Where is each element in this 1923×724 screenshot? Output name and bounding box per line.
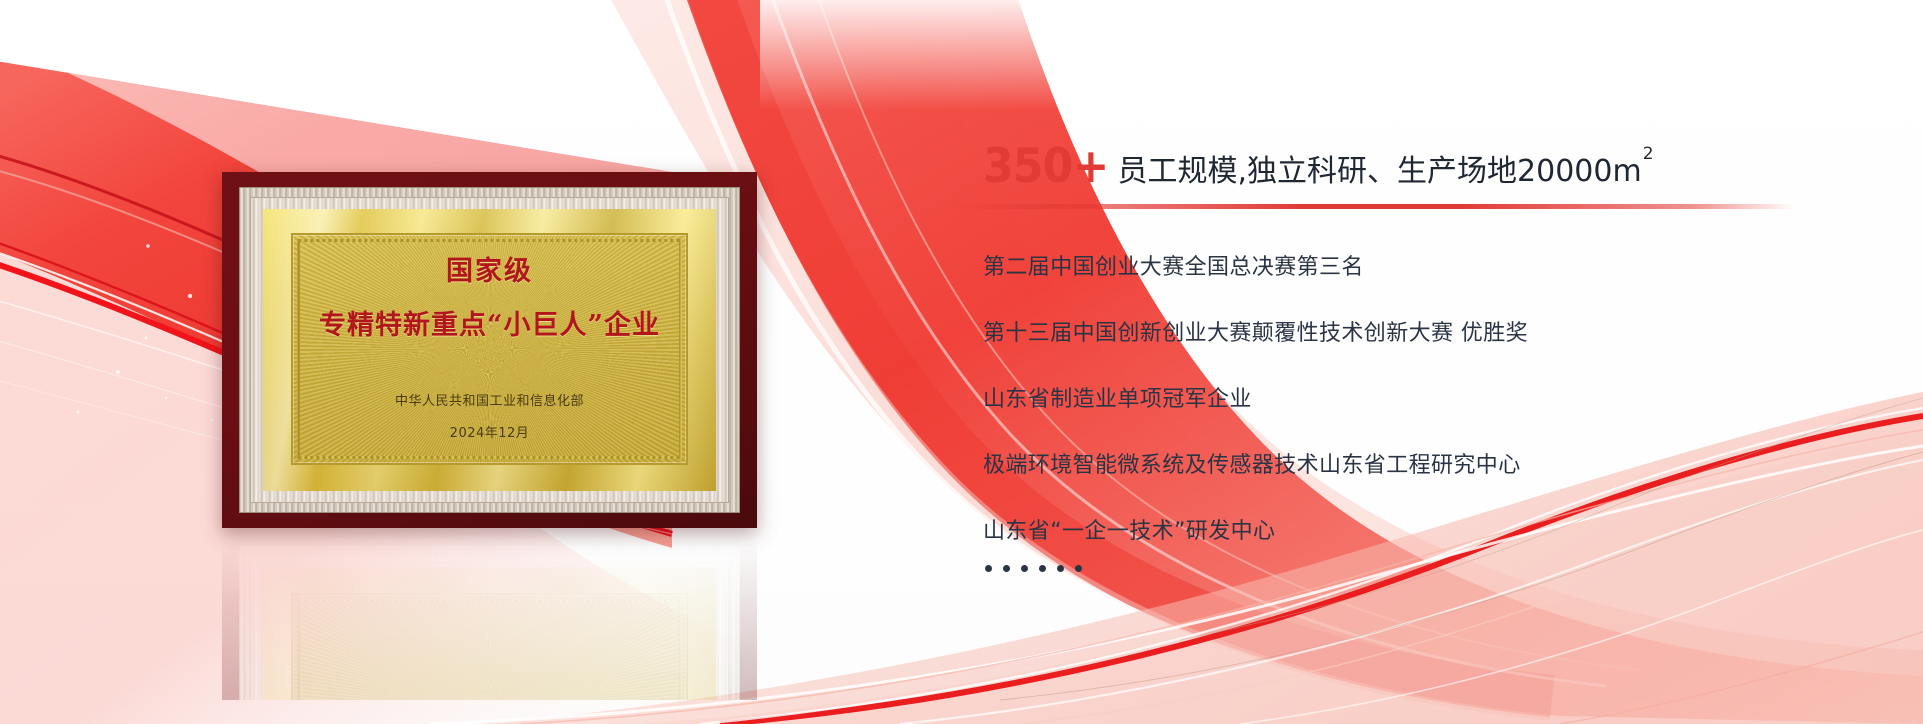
headline-text: 员工规模,独立科研、生产场地20000m2 — [1118, 157, 1653, 187]
ellipsis-dot — [1021, 565, 1028, 572]
ellipsis-dot — [985, 565, 992, 572]
plaque-silver-border: 国家级 专精特新重点“小巨人”企业 中华人民共和国工业和信息化部 2024年12… — [239, 187, 740, 513]
award-plaque: 国家级 专精特新重点“小巨人”企业 中华人民共和国工业和信息化部 2024年12… — [222, 172, 757, 528]
ellipsis-dot — [1057, 565, 1064, 572]
ellipsis-indicator — [985, 565, 1853, 572]
headline: 350+ 员工规模,独立科研、生产场地20000m2 — [983, 143, 1853, 190]
headline-text-main: 员工规模,独立科研、生产场地20000m — [1118, 154, 1642, 189]
plaque-gold-plate: 国家级 专精特新重点“小巨人”企业 中华人民共和国工业和信息化部 2024年12… — [263, 209, 716, 491]
plaque-reflection-gold — [263, 567, 716, 700]
headline-number: 350+ — [983, 143, 1108, 190]
content-panel: 350+ 员工规模,独立科研、生产场地20000m2 第二届中国创业大赛全国总决… — [983, 143, 1853, 572]
plaque-reflection — [222, 530, 757, 700]
award-item: 山东省“一企一技术”研发中心 — [983, 513, 1853, 545]
banner-canvas: 国家级 专精特新重点“小巨人”企业 中华人民共和国工业和信息化部 2024年12… — [0, 0, 1923, 724]
headline-underline-rule — [950, 204, 1795, 209]
ellipsis-dot — [1003, 565, 1010, 572]
award-item: 第十三届中国创新创业大赛颠覆性技术创新大赛 优胜奖 — [983, 315, 1853, 347]
award-item: 山东省制造业单项冠军企业 — [983, 381, 1853, 413]
plaque-title-line-2: 专精特新重点“小巨人”企业 — [319, 303, 660, 342]
plaque-reflection-gold-field — [291, 593, 688, 700]
award-item: 极端环境智能微系统及传感器技术山东省工程研究中心 — [983, 447, 1853, 479]
plaque-silver-inner-border: 国家级 专精特新重点“小巨人”企业 中华人民共和国工业和信息化部 2024年12… — [250, 197, 729, 503]
award-item: 第二届中国创业大赛全国总决赛第三名 — [983, 249, 1853, 281]
plaque-reflection-silver-border — [239, 545, 740, 700]
award-list: 第二届中国创业大赛全国总决赛第三名 第十三届中国创新创业大赛颠覆性技术创新大赛 … — [983, 249, 1853, 572]
ellipsis-dot — [1075, 565, 1082, 572]
plaque-title-line-1: 国家级 — [446, 249, 533, 288]
headline-superscript: 2 — [1643, 144, 1654, 164]
plaque-frame: 国家级 专精特新重点“小巨人”企业 中华人民共和国工业和信息化部 2024年12… — [222, 172, 757, 528]
ellipsis-dot — [1039, 565, 1046, 572]
plaque-issuer: 中华人民共和国工业和信息化部 — [395, 390, 584, 409]
plaque-text-block: 国家级 专精特新重点“小巨人”企业 中华人民共和国工业和信息化部 2024年12… — [263, 209, 716, 491]
plaque-reflection-silver-inner — [250, 555, 729, 700]
plaque-date: 2024年12月 — [450, 422, 530, 441]
plaque-reflection-frame — [222, 530, 757, 700]
